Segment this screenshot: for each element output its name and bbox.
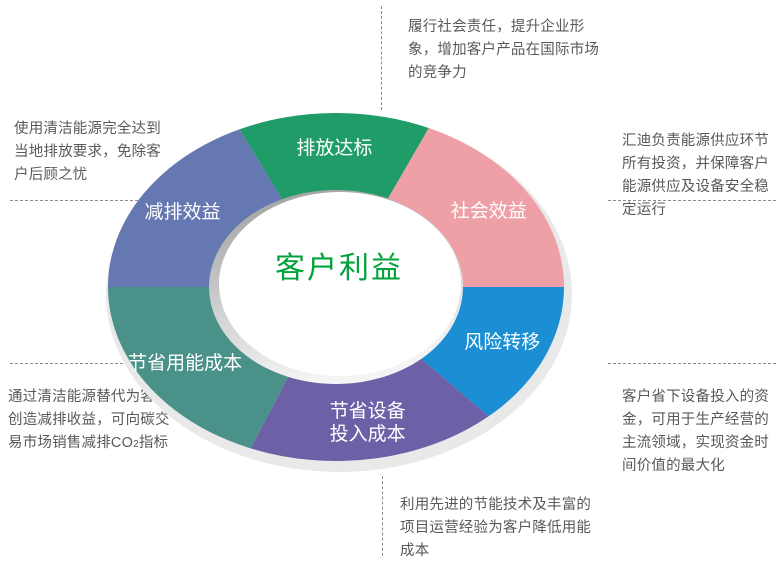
donut-segment-label: 减排效益 xyxy=(144,201,220,223)
note-social-responsibility: 履行社会责任，提升企业形象，增加客户产品在国际市场的竞争力 xyxy=(408,16,608,85)
donut-chart-svg: 客户利益 社会效益风险转移节省设备投入成本节省用能成本减排效益排放达标 xyxy=(96,104,576,474)
dash-line-bottom xyxy=(382,476,383,556)
donut-segment-label: 社会效益 xyxy=(451,200,527,222)
donut-center-label: 客户利益 xyxy=(275,252,403,285)
note-capital-savings: 客户省下设备投入的资金，可用于生产经营的主流领域，实现资金时间价值的最大化 xyxy=(622,386,772,478)
dash-line-right-lower xyxy=(608,363,776,364)
donut-segment-label: 排放达标 xyxy=(296,137,372,159)
donut-segment-label: 节省用能成本 xyxy=(128,352,242,374)
note-energy-cost-savings: 利用先进的节能技术及丰富的项目运营经验为客户降低用能成本 xyxy=(400,494,600,563)
note-risk-transfer: 汇迪负责能源供应环节所有投资，并保障客户能源供应及设备安全稳定运行 xyxy=(622,130,782,222)
diagram-canvas: 履行社会责任，提升企业形象，增加客户产品在国际市场的竞争力 使用清洁能源完全达到… xyxy=(0,0,782,561)
donut-segment-label: 风险转移 xyxy=(464,331,540,353)
dash-line-top xyxy=(381,6,382,110)
donut-chart: 客户利益 社会效益风险转移节省设备投入成本节省用能成本减排效益排放达标 xyxy=(96,104,576,474)
